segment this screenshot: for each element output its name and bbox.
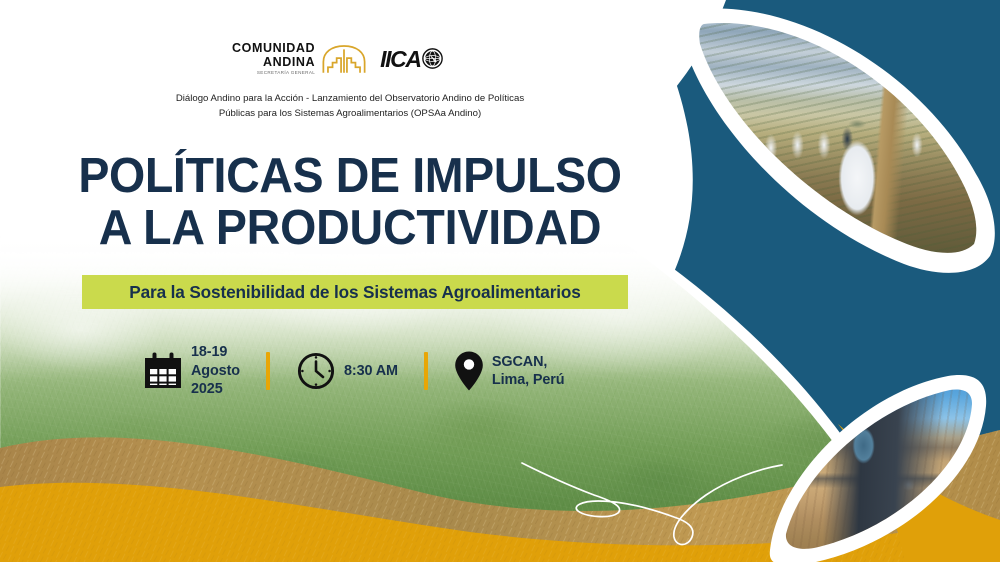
stepped-arch-icon [322,44,366,74]
event-location-text: SGCAN, Lima, Perú [492,353,565,390]
ca-line1: COMUNIDAD [232,42,315,55]
looping-line-decoration [520,455,820,562]
location-line-1: SGCAN, [492,353,565,371]
map-pin-icon [454,350,484,392]
iica-logo: IICA [380,48,442,70]
ca-line2: ANDINA [232,56,315,69]
iica-wordmark: IICA [380,49,420,70]
date-line-3: 2025 [191,380,240,398]
kicker-line-2: Públicas para los Sistemas Agroalimentar… [0,107,700,122]
date-line-1: 18-19 [191,343,240,361]
title-line-2: A LA PRODUCTIVIDAD [18,202,683,254]
date-line-2: Agosto [191,362,240,380]
clock-icon [296,351,336,391]
event-time: 8:30 AM [296,351,398,391]
leaf-photo-nursery [668,0,1000,292]
event-date-text: 18-19 Agosto 2025 [191,343,240,398]
event-subheader: Diálogo Andino para la Acción - Lanzamie… [0,92,700,122]
subtitle-text: Para la Sostenibilidad de los Sistemas A… [129,282,580,303]
calendar-icon [143,351,183,391]
event-details-row: 18-19 Agosto 2025 8:30 AM [143,344,565,398]
kicker-line-1: Diálogo Andino para la Acción - Lanzamie… [0,92,700,107]
event-time-text: 8:30 AM [344,362,398,380]
page-title: POLÍTICAS DE IMPULSO A LA PRODUCTIVIDAD [18,150,683,255]
event-location: SGCAN, Lima, Perú [454,350,565,392]
ca-line3: SECRETARÍA GENERAL [232,71,315,76]
subtitle-highlight-bar: Para la Sostenibilidad de los Sistemas A… [82,275,628,309]
logo-group: COMUNIDAD ANDINA SECRETARÍA GENERAL IICA [232,34,472,84]
divider-1 [266,352,270,390]
globe-icon [422,48,443,69]
location-line-2: Lima, Perú [492,371,565,389]
event-poster: COMUNIDAD ANDINA SECRETARÍA GENERAL IICA [0,0,1000,562]
event-date: 18-19 Agosto 2025 [143,343,240,398]
comunidad-andina-logo: COMUNIDAD ANDINA SECRETARÍA GENERAL [232,42,366,75]
title-line-1: POLÍTICAS DE IMPULSO [18,150,683,202]
divider-2 [424,352,428,390]
